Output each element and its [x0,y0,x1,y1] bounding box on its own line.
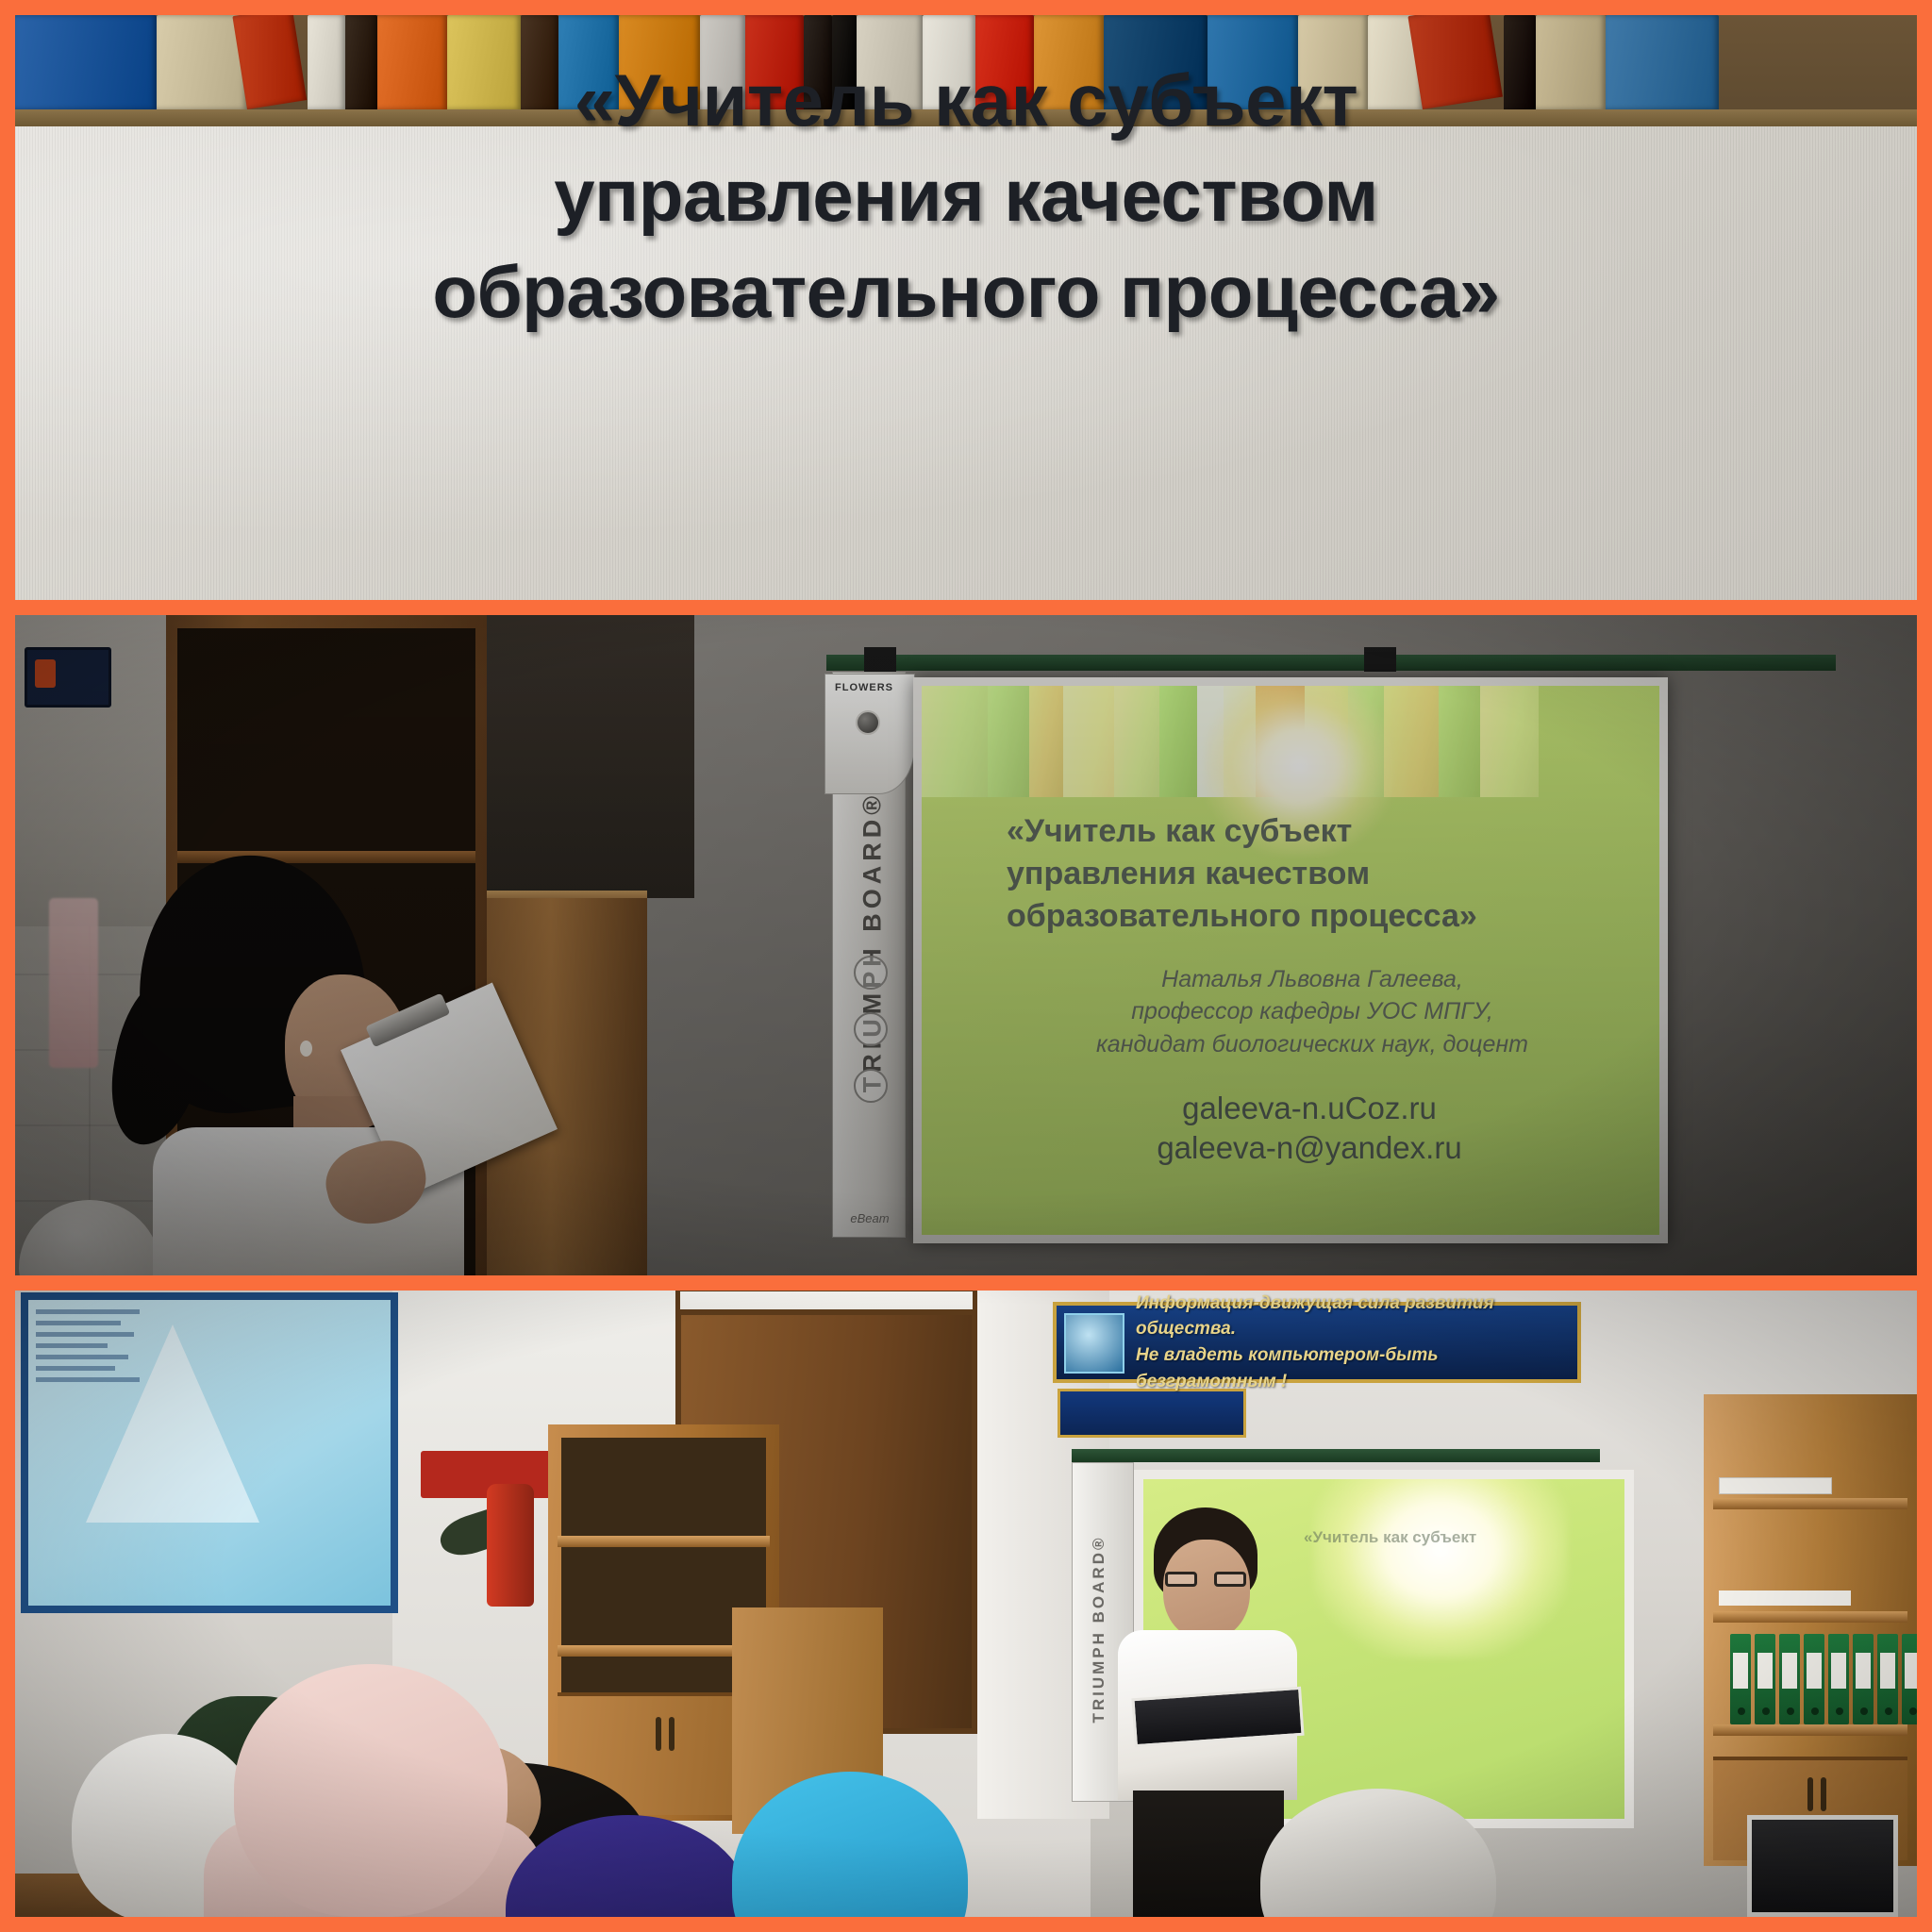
binder [1902,1634,1917,1724]
vendor-label: FLOWERS [835,682,893,693]
email-link: galeeva-n@yandex.ru [1007,1128,1612,1168]
author-degree: кандидат биологических наук, доцент [1007,1028,1618,1061]
fire-extinguisher [487,1484,534,1607]
banner-globe-icon [1064,1313,1124,1374]
book-spine [988,686,1029,797]
book-spine [1439,686,1480,797]
rail-clip [1364,647,1396,672]
banner-text: Информация-движущая сила развития общест… [1136,1291,1577,1394]
bookcase-books-row [232,738,380,851]
binder [1828,1634,1849,1724]
binder [1730,1634,1751,1724]
document-bookcase [1704,1394,1917,1866]
projection-screen-frame: «Учитель как субъект управления качество… [913,677,1668,1243]
book-spine [1114,686,1159,797]
slide-content: «Учитель как субъект управления качество… [1007,810,1635,1169]
projected-links: galeeva-n.uCoz.ru galeeva-n@yandex.ru [1007,1089,1635,1168]
book-spine [1029,686,1063,797]
projected-title-line-3: образовательного процесса» [1007,895,1635,938]
audience-head [234,1664,508,1917]
face [1163,1540,1250,1640]
poster-text-lines [36,1309,149,1389]
panel-presenter-at-board: TRIUMPH BOARD® eBeam FLOWERS «Учитель ка… [15,615,1917,1275]
projected-title: «Учитель как субъект управления качество… [1007,810,1635,939]
projected-title-line-1: «Учитель как субъект [1007,810,1635,853]
triumph-board-head-unit: FLOWERS [824,674,915,794]
binder [1755,1634,1775,1724]
book-spine [1159,686,1197,797]
projected-slide: «Учитель как субъект управления качество… [922,686,1659,1235]
panel-title-slide: «Учитель как субъект управления качество… [15,15,1917,600]
binder [1877,1634,1898,1724]
wall-poster-diagram [21,1292,398,1613]
banner-line-2: Не владеть компьютером-быть безграмотным… [1136,1342,1577,1394]
photo-collage: «Учитель как субъект управления качество… [0,0,1932,1932]
projected-title-faint: «Учитель как субъект [1304,1526,1607,1549]
bookcase-books-row [586,1458,757,1536]
projector-hotspot [1313,1479,1568,1658]
whiteboard-rail [1072,1449,1600,1462]
slide-title: «Учитель как субъект управления качество… [15,53,1917,340]
slide-title-line-2: управления качеством [100,148,1832,243]
binder [1804,1634,1824,1724]
eyeglasses-icon [1165,1572,1246,1588]
green-binders [1730,1634,1917,1724]
author-position: профессор кафедры УОС МПГУ, [1007,995,1618,1028]
author-name: Наталья Львовна Галеева, [1007,963,1618,996]
print-icon[interactable] [854,1069,888,1103]
banner-line-1: Информация-движущая сила развития общест… [1136,1291,1577,1342]
bookcase-books-row [586,1568,713,1645]
whiteboard-rail [826,655,1836,671]
projected-author: Наталья Львовна Галеева, профессор кафед… [1007,963,1635,1061]
website-link: galeeva-n.uCoz.ru [1007,1089,1612,1128]
binder [1779,1634,1800,1724]
hanging-towel [49,898,98,1068]
panel-audience: Информация-движущая сила развития общест… [15,1291,1917,1917]
power-knob-icon[interactable] [856,710,880,735]
room-wall-dark [487,615,694,898]
book-spine [922,686,988,797]
wall-banner: Информация-движущая сила развития общест… [1053,1302,1581,1383]
book-spine [1480,686,1539,797]
small-blue-sign [1058,1389,1246,1438]
earring [300,1041,312,1057]
shelf-paper-stack [1719,1477,1832,1494]
ebeam-label: eBeam [839,1211,901,1225]
projected-title-line-2: управления качеством [1007,853,1635,895]
shelf-paper-stack [1719,1591,1851,1606]
book-spine [1063,686,1114,797]
binder [1853,1634,1874,1724]
wall-plaque [25,647,111,708]
rail-clip [864,647,896,672]
display-icon[interactable] [854,1012,888,1046]
keypad-icon[interactable] [854,956,888,990]
slide-title-line-3: образовательного процесса» [100,244,1832,340]
slide-title-line-1: «Учитель как субъект [100,53,1832,148]
computer-monitor [1747,1815,1898,1917]
